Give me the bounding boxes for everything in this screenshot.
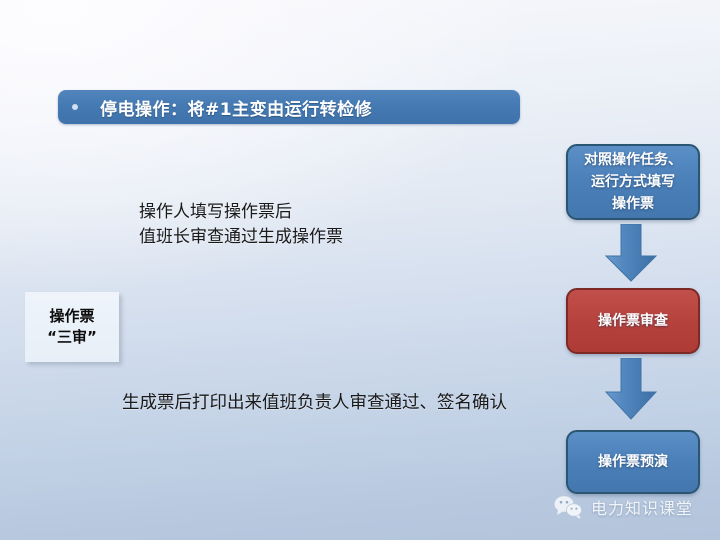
title-banner: 停电操作：将#1主变由运行转检修 <box>58 90 520 124</box>
down-arrow-icon <box>604 358 658 420</box>
wechat-icon <box>553 494 583 520</box>
flow-box-compare-task-fill-ticket: 对照操作任务、 运行方式填写 操作票 <box>566 144 700 220</box>
flow-box-1-line-1: 对照操作任务、 <box>584 149 682 171</box>
flow-box-3-line-1: 操作票预演 <box>598 451 668 473</box>
flow-box-ticket-rehearsal: 操作票预演 <box>566 430 700 494</box>
callout-line-1: 操作票 <box>49 306 94 327</box>
down-arrow-icon <box>604 224 658 282</box>
callout-line-2: “三审” <box>47 327 97 348</box>
flow-box-1-line-3: 操作票 <box>584 193 682 215</box>
watermark-text: 电力知识课堂 <box>591 495 693 519</box>
paragraph-top: 操作人填写操作票后 值班长审查通过生成操作票 <box>139 200 343 250</box>
flow-box-1-line-2: 运行方式填写 <box>584 171 682 193</box>
flow-box-2-line-1: 操作票审查 <box>598 310 668 332</box>
slide-canvas: 停电操作：将#1主变由运行转检修 操作人填写操作票后 值班长审查通过生成操作票 … <box>0 0 720 540</box>
paragraph-top-line-2: 值班长审查通过生成操作票 <box>139 225 343 250</box>
callout-ticket-three-reviews: 操作票 “三审” <box>25 292 119 362</box>
bullet-dot-icon <box>72 104 78 110</box>
paragraph-top-line-1: 操作人填写操作票后 <box>139 200 343 225</box>
flow-box-ticket-review: 操作票审查 <box>566 288 700 354</box>
paragraph-bottom: 生成票后打印出来值班负责人审查通过、签名确认 <box>122 391 507 416</box>
title-text: 停电操作：将#1主变由运行转检修 <box>100 95 372 120</box>
watermark: 电力知识课堂 <box>553 494 693 520</box>
